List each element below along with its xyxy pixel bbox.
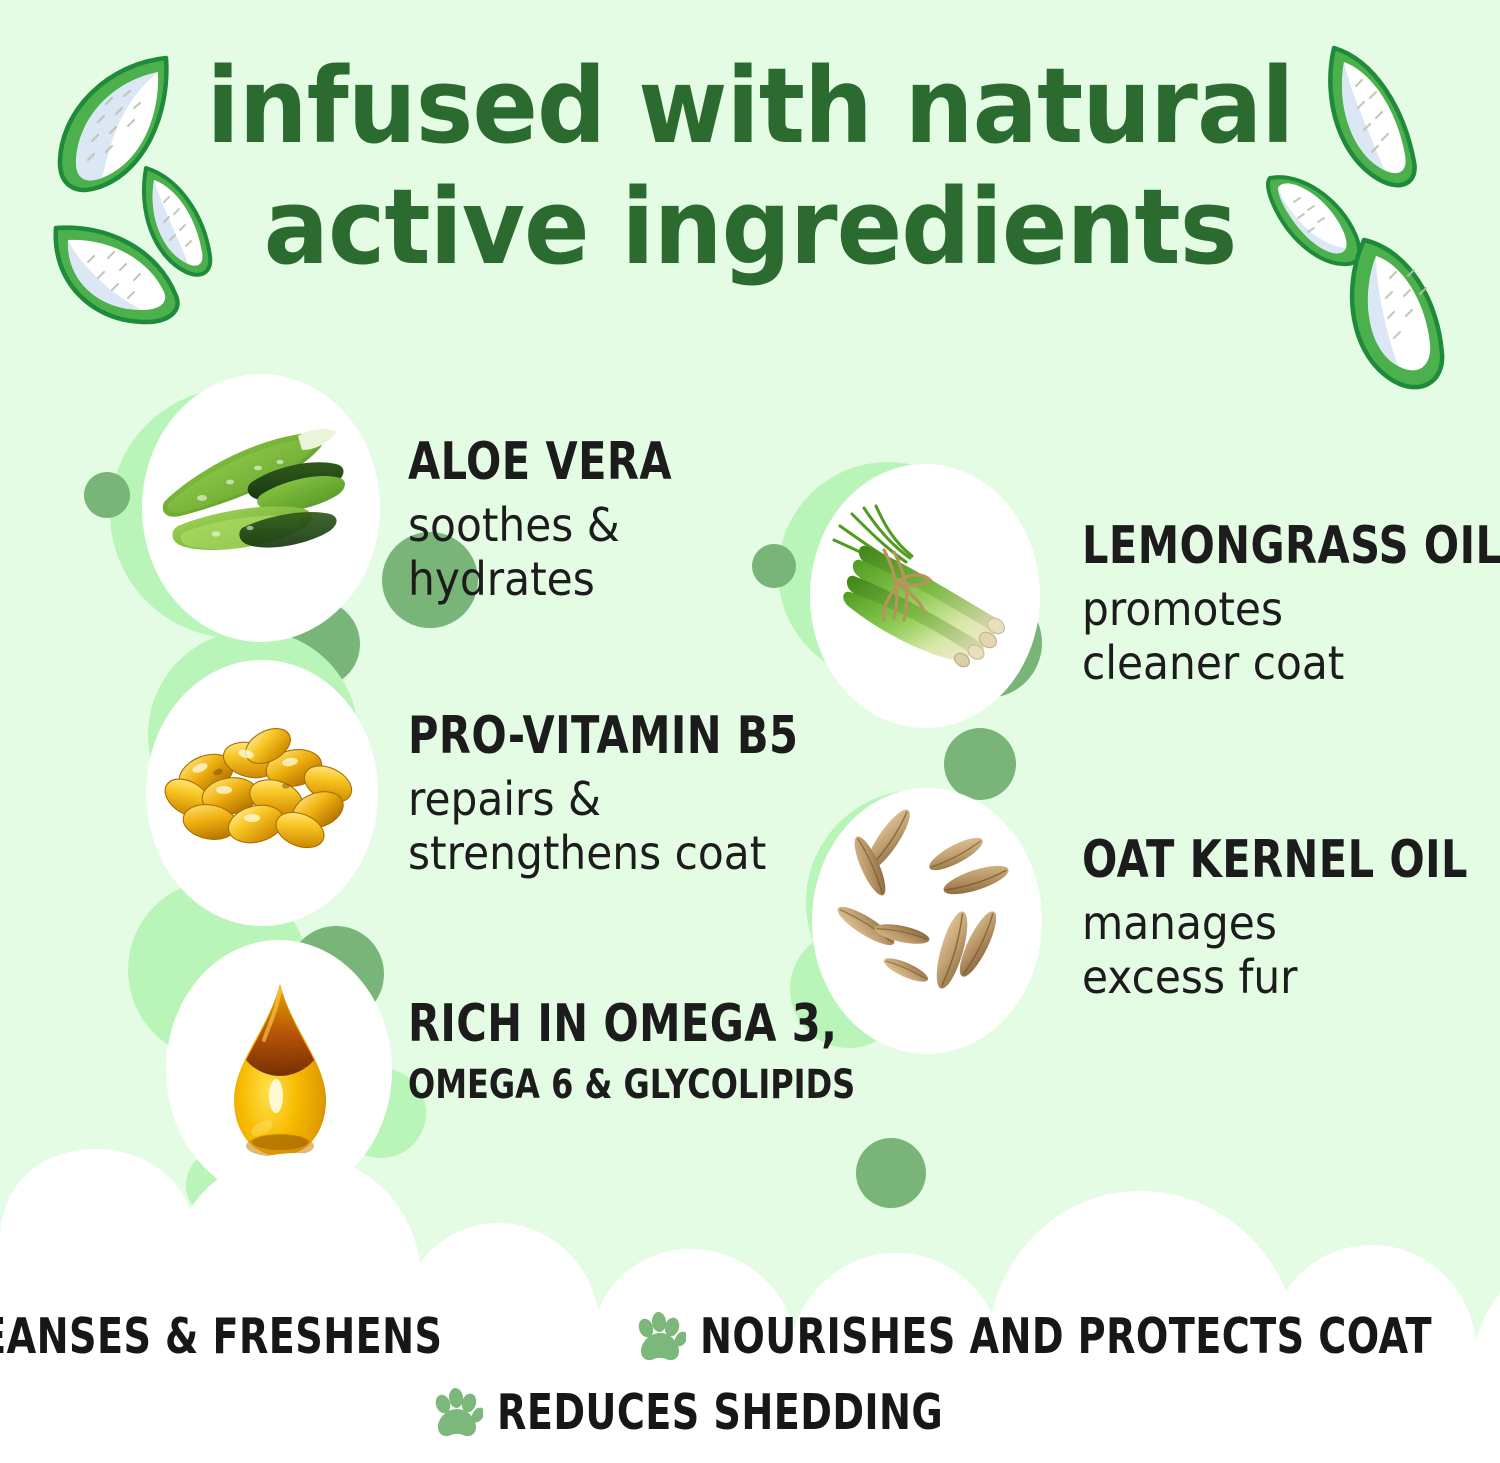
ingredient-title: ALOE VERA xyxy=(408,432,672,492)
ingredient-description: manages excess fur xyxy=(1082,896,1500,1005)
ingredient-title: LEMONGRASS OIL xyxy=(1082,516,1500,576)
decor-circle-sage-1 xyxy=(84,472,130,518)
ingredient-description-line: promotes xyxy=(1082,582,1500,636)
decor-circle-sage-7 xyxy=(944,728,1016,800)
ingredient-description-line: excess fur xyxy=(1082,950,1500,1004)
ingredient-oat-kernel-oil: OAT KERNEL OIL manages excess fur xyxy=(1082,830,1500,1005)
ingredient-omega: RICH IN OMEGA 3, OMEGA 6 & GLYCOLIPIDS xyxy=(408,994,967,1109)
benefit-cleanses-freshens: CLEANSES & FRESHENS xyxy=(0,1308,588,1365)
ingredient-description-line: strengthens coat xyxy=(408,826,857,880)
infographic-canvas: infused with natural active ingredients xyxy=(0,0,1500,1463)
benefits-row-2: REDUCES SHEDDING xyxy=(0,1384,1500,1441)
ingredient-title: RICH IN OMEGA 3, xyxy=(408,994,855,1054)
ingredient-description-line: manages xyxy=(1082,896,1500,950)
ingredient-description-line: hydrates xyxy=(408,552,712,606)
paw-print-icon xyxy=(431,1387,483,1439)
benefit-label: NOURISHES AND PROTECTS COAT xyxy=(700,1308,1432,1365)
decor-circle-sage-5 xyxy=(752,544,796,588)
ingredient-description-line: OMEGA 6 & GLYCOLIPIDS xyxy=(408,1062,855,1109)
benefit-label: REDUCES SHEDDING xyxy=(497,1384,943,1441)
benefit-reduces-shedding: REDUCES SHEDDING xyxy=(431,1384,1069,1441)
ingredient-description: OMEGA 6 & GLYCOLIPIDS xyxy=(408,1062,855,1109)
ingredient-pro-vitamin-b5: PRO-VITAMIN B5 repairs & strengthens coa… xyxy=(408,706,896,881)
paw-print-icon xyxy=(634,1311,686,1363)
aloe-vera-image xyxy=(150,420,370,600)
ingredient-description: repairs & strengthens coat xyxy=(408,772,857,881)
ingredient-aloe-vera: ALOE VERA soothes & hydrates xyxy=(408,432,738,607)
benefits-row-1: CLEANSES & FRESHENS NOURISHES AND PROTEC… xyxy=(0,1308,1500,1365)
ingredient-title: PRO-VITAMIN B5 xyxy=(408,706,798,766)
lemongrass-image xyxy=(824,500,1034,670)
page-headline: infused with natural active ingredients xyxy=(53,46,1448,287)
benefit-nourishes-protects: NOURISHES AND PROTECTS COAT xyxy=(634,1308,1500,1365)
ingredient-description-line: soothes & xyxy=(408,498,712,552)
ingredient-title: OAT KERNEL OIL xyxy=(1082,830,1468,890)
benefit-label: CLEANSES & FRESHENS xyxy=(0,1308,443,1365)
vitamin-capsules-image xyxy=(158,712,370,862)
ingredient-description: soothes & hydrates xyxy=(408,498,712,607)
headline-line-1: infused with natural xyxy=(53,46,1448,167)
ingredient-description-line: cleaner coat xyxy=(1082,636,1500,690)
ingredient-description-line: repairs & xyxy=(408,772,857,826)
headline-line-2: active ingredients xyxy=(53,167,1448,288)
ingredient-description: promotes cleaner coat xyxy=(1082,582,1500,691)
ingredient-lemongrass-oil: LEMONGRASS OIL promotes cleaner coat xyxy=(1082,516,1500,691)
